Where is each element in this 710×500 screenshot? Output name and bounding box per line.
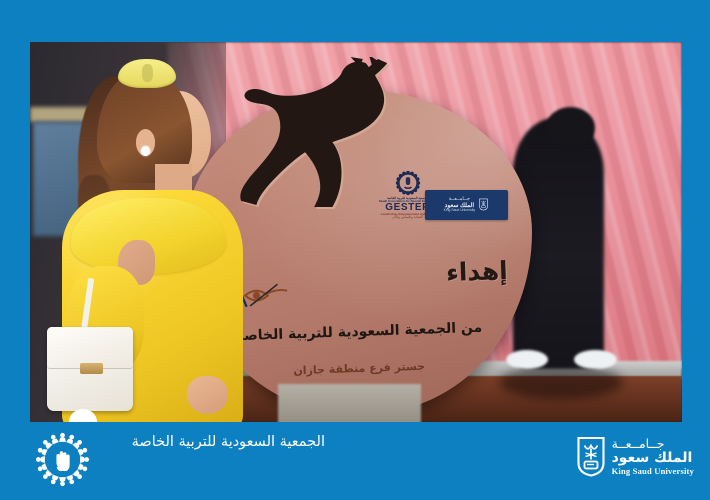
hand-in-circle-of-people-logo-icon — [35, 432, 90, 487]
plaque-ksu-badge: جــامــعــة الملك سعود King Saud Univers… — [425, 190, 508, 221]
event-photograph: الجمعية السعودية للتربية الخاصة Saudi As… — [30, 42, 682, 422]
footer-ksu-arabic-1: جــامــعــة — [612, 437, 694, 451]
girl-in-yellow-dress — [50, 50, 265, 422]
standing-man-shoe-right — [574, 350, 616, 369]
plaque-title-ihdaa: إهداء — [446, 256, 509, 287]
man-shadow — [499, 365, 623, 399]
footer-ksu-arabic-2: الملك سعود — [612, 451, 694, 467]
standing-man-shoe-left — [506, 350, 548, 369]
footer-ksu-english: King Saud University — [612, 467, 694, 477]
ksu-shield-emblem-icon — [478, 198, 489, 211]
footer-bar: الجمعية السعودية للتربية الخاصة جــامــع… — [0, 422, 710, 500]
handbag-clasp — [80, 363, 104, 374]
event-photo-card: الجمعية السعودية للتربية الخاصة Saudi As… — [0, 0, 710, 500]
king-saud-university-logo: جــامــعــة الملك سعود King Saud Univers… — [576, 436, 694, 478]
gear-ring-logo-icon — [395, 170, 421, 196]
yellow-hair-bow — [118, 59, 176, 88]
pearl-earring — [141, 146, 150, 156]
ksu-shield-emblem-icon — [576, 436, 606, 478]
plaque-stand — [278, 384, 421, 422]
plaque-ksu-english: King Saud University — [444, 209, 475, 213]
association-name-label: الجمعية السعودية للتربية الخاصة — [132, 434, 325, 450]
standing-man-head — [546, 107, 594, 149]
